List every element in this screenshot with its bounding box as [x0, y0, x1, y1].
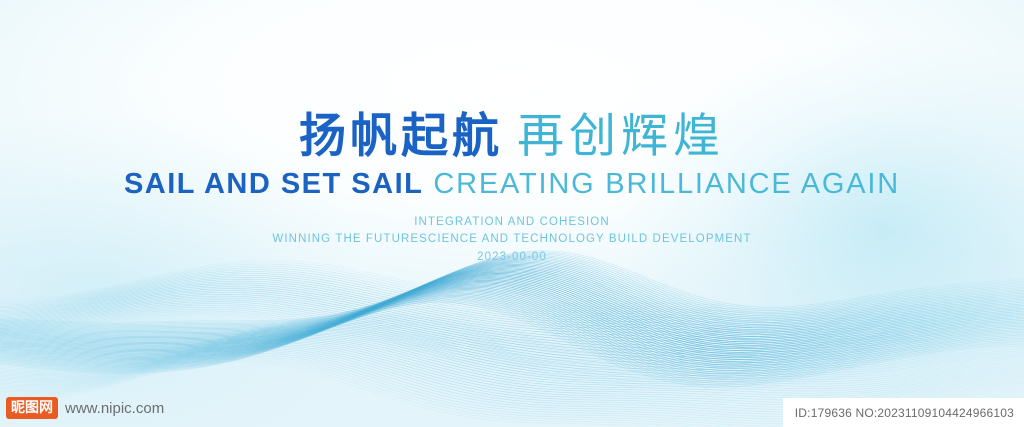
subtitle-line-1: INTEGRATION AND COHESION	[0, 216, 1024, 228]
headline-chinese-primary: 扬帆起航	[299, 109, 503, 164]
image-id-text: ID:179636 NO:20231109104424966103	[795, 406, 1014, 420]
headline-english: SAIL AND SET SAILCREATING BRILLIANCE AGA…	[0, 168, 1024, 201]
background-glow-left	[0, 120, 360, 427]
watermark-site-url: www.nipic.com	[65, 400, 164, 417]
background-glow-right	[624, 40, 1024, 420]
poster-canvas: 扬帆起航再创辉煌 SAIL AND SET SAILCREATING BRILL…	[0, 0, 1024, 427]
headline-chinese: 扬帆起航再创辉煌	[0, 108, 1024, 164]
headline-chinese-secondary: 再创辉煌	[517, 109, 725, 164]
nipic-logo: 昵图网	[6, 397, 58, 420]
headline-english-primary: SAIL AND SET SAIL	[124, 168, 423, 200]
event-date: 2023-00-00	[0, 251, 1024, 263]
subtitle-line-2: WINNING THE FUTURESCIENCE AND TECHNOLOGY…	[0, 233, 1024, 245]
image-id-bar: ID:179636 NO:20231109104424966103	[783, 398, 1024, 427]
watermark: 昵图网 www.nipic.com	[6, 395, 164, 421]
wave-line-graphic	[0, 0, 1024, 427]
headline-english-secondary: CREATING BRILLIANCE AGAIN	[433, 168, 900, 200]
